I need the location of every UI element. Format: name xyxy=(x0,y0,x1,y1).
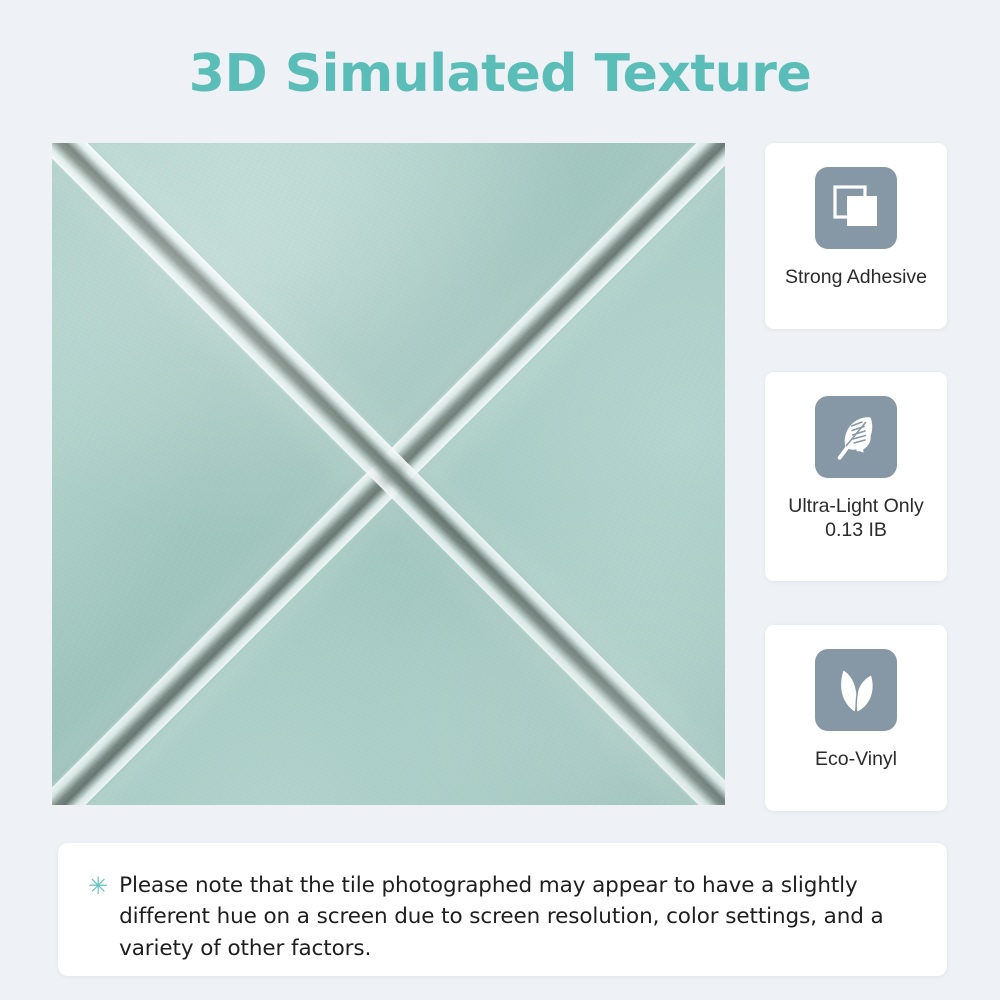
feature-label: Ultra-Light Only 0.13 IB xyxy=(782,495,929,543)
disclaimer-note: ✳ Please note that the tile photographed… xyxy=(58,843,947,976)
feature-label-text: Ultra-Light Only xyxy=(788,495,923,517)
feature-card-ultra-light: Ultra-Light Only 0.13 IB xyxy=(765,372,947,581)
asterisk-icon: ✳ xyxy=(88,874,108,976)
overlapping-squares-icon xyxy=(815,167,897,249)
feature-label: Eco-Vinyl xyxy=(809,748,903,772)
product-infographic: 3D Simulated Texture Strong Adhesive xyxy=(0,0,1000,1000)
feature-label-sub: 0.13 IB xyxy=(788,519,923,543)
page-title: 3D Simulated Texture xyxy=(0,44,1000,104)
feature-card-strong-adhesive: Strong Adhesive xyxy=(765,143,947,329)
feature-label-text: Eco-Vinyl xyxy=(815,748,897,770)
feature-label: Strong Adhesive xyxy=(779,266,933,290)
leaves-icon xyxy=(815,649,897,731)
product-photo xyxy=(52,143,725,805)
feather-icon xyxy=(815,396,897,478)
feature-label-text: Strong Adhesive xyxy=(785,266,927,288)
disclaimer-text: Please note that the tile photographed m… xyxy=(119,870,913,976)
feature-card-eco-vinyl: Eco-Vinyl xyxy=(765,625,947,811)
tile-field xyxy=(52,143,725,805)
